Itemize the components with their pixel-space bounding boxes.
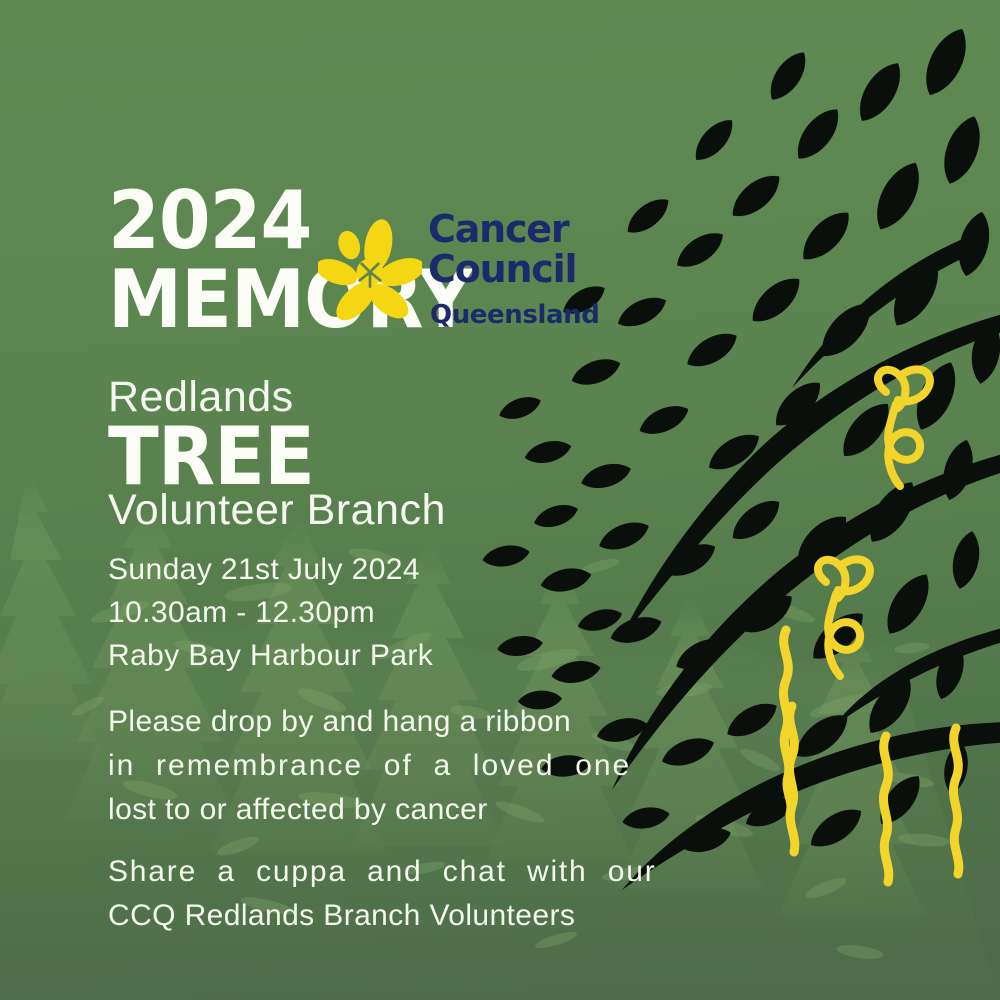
logo-word-cancer: Cancer <box>428 210 598 250</box>
invitation-line-1: Share a cuppa and chat with our <box>108 850 648 894</box>
ribbon-streamer-3 <box>883 736 888 882</box>
daffodil-icon <box>318 218 422 322</box>
event-location: Raby Bay Harbour Park <box>108 635 628 678</box>
ribbon-streamer-4 <box>953 728 958 874</box>
message-line-2: in remembrance of a loved one <box>108 744 648 788</box>
message-line-1: Please drop by and hang a ribbon <box>108 700 648 744</box>
invitation-line-2: CCQ Redlands Branch Volunteers <box>108 894 648 938</box>
message-line-3: lost to or affected by cancer <box>108 788 648 832</box>
logo-word-council: Council <box>428 250 598 290</box>
logo-wordmark: Cancer Council <box>428 210 598 289</box>
subtitle-line-1: Redlands <box>108 369 628 426</box>
event-details: Sunday 21st July 2024 10.30am - 12.30pm … <box>108 549 628 678</box>
event-date: Sunday 21st July 2024 <box>108 549 628 592</box>
subtitle-line-2: Volunteer Branch <box>108 482 628 539</box>
event-time: 10.30am - 12.30pm <box>108 592 628 635</box>
invitation-message: Share a cuppa and chat with our CCQ Redl… <box>108 850 648 938</box>
ribbon-streamer-2 <box>789 706 794 852</box>
remembrance-message: Please drop by and hang a ribbon in reme… <box>108 700 648 832</box>
memory-tree-poster: 2024 MEMORY TREE <box>0 0 1000 1000</box>
memory-ribbons <box>783 369 958 882</box>
